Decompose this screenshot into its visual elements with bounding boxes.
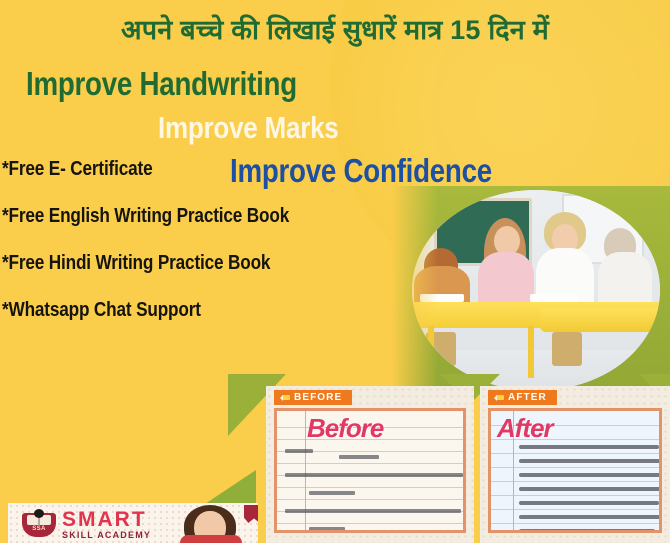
offer-item-whatsapp-support: *Whatsapp Chat Support <box>2 299 329 322</box>
after-tab-label: AFTER <box>508 392 547 403</box>
brand-name: SMART <box>62 510 151 530</box>
before-handwriting-line <box>309 491 355 495</box>
before-handwriting-line <box>339 455 379 459</box>
pencil-icon <box>494 395 504 401</box>
graduate-cap-icon <box>34 509 44 518</box>
benefit-improve-marks: Improve Marks <box>158 110 339 146</box>
headline-hindi: अपने बच्चे की लिखाई सुधारें मात्र 15 दिन… <box>0 16 670 46</box>
after-handwriting-line <box>519 473 661 477</box>
before-tab-label: BEFORE <box>294 392 342 403</box>
desk-back <box>540 308 660 332</box>
photo-backdrop-fade <box>392 186 438 391</box>
before-handwriting-line <box>285 473 463 477</box>
before-tab: BEFORE <box>274 390 352 405</box>
after-notebook: After <box>488 408 662 533</box>
poster-canvas: अपने बच्चे की लिखाई सुधारें मात्र 15 दिन… <box>0 0 670 543</box>
crest-initials: SSA <box>22 526 56 532</box>
after-handwriting-line <box>519 487 662 491</box>
brand-block: SMART SKILL ACADEMY <box>62 510 151 541</box>
brand-tagline: SKILL ACADEMY <box>62 530 151 541</box>
academy-crest-icon: SSA <box>22 509 56 537</box>
after-heading: After <box>497 413 553 444</box>
portrait-shirt <box>180 535 242 543</box>
desk-leg-3 <box>650 326 656 378</box>
before-notebook: Before <box>274 408 466 533</box>
after-panel: AFTER After <box>480 386 670 543</box>
before-heading: Before <box>307 413 383 444</box>
after-handwriting-line <box>519 501 659 505</box>
before-handwriting-line <box>285 449 313 453</box>
desk-leg-2 <box>528 326 534 378</box>
pencil-icon <box>280 395 290 401</box>
chair-2 <box>552 332 582 366</box>
after-handwriting-line <box>519 529 655 533</box>
classroom-photo <box>412 190 660 390</box>
offer-item-certificate: *Free E- Certificate <box>2 158 329 181</box>
after-tab: AFTER <box>488 390 557 405</box>
before-panel: BEFORE Before <box>266 386 474 543</box>
benefit-improve-handwriting: Improve Handwriting <box>26 65 297 103</box>
after-handwriting-line <box>519 515 662 519</box>
after-handwriting-line <box>519 459 662 463</box>
academy-logo-strip: SSA SMART SKILL ACADEMY <box>8 503 258 543</box>
offer-item-english-book: *Free English Writing Practice Book <box>2 205 329 228</box>
offer-item-hindi-book: *Free Hindi Writing Practice Book <box>2 252 329 275</box>
before-handwriting-line <box>285 509 461 513</box>
paper-2 <box>530 294 578 302</box>
after-handwriting-line <box>519 445 659 449</box>
before-handwriting-line <box>309 527 345 531</box>
offers-list: *Free E- Certificate *Free English Writi… <box>2 158 382 346</box>
